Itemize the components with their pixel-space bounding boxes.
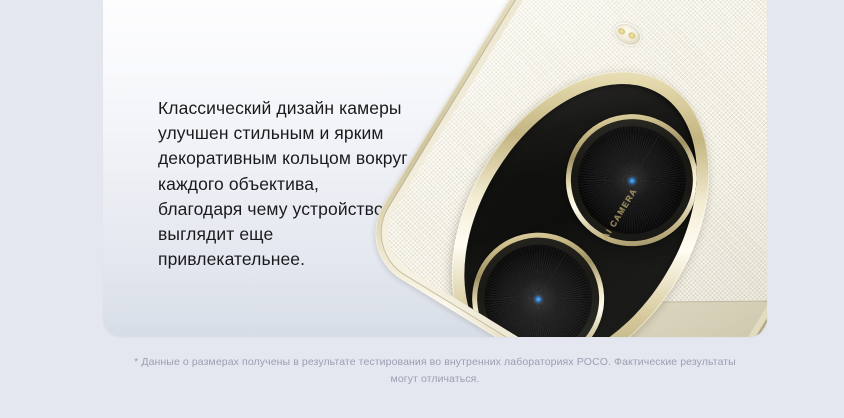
main-lens-reflection	[627, 175, 637, 185]
page-root: Классический дизайн камеры улучшен стиль…	[0, 0, 844, 418]
main-lens-ring	[548, 96, 716, 264]
main-lens-glass	[558, 106, 707, 255]
disclaimer-footnote: * Данные о размерах получены в результат…	[122, 354, 748, 388]
product-image: AI CAMERA	[353, 0, 767, 337]
camera-feature-card: Классический дизайн камеры улучшен стиль…	[103, 0, 767, 337]
secondary-lens-reflection	[533, 294, 543, 304]
poco-phone-back: AI CAMERA	[355, 0, 767, 337]
